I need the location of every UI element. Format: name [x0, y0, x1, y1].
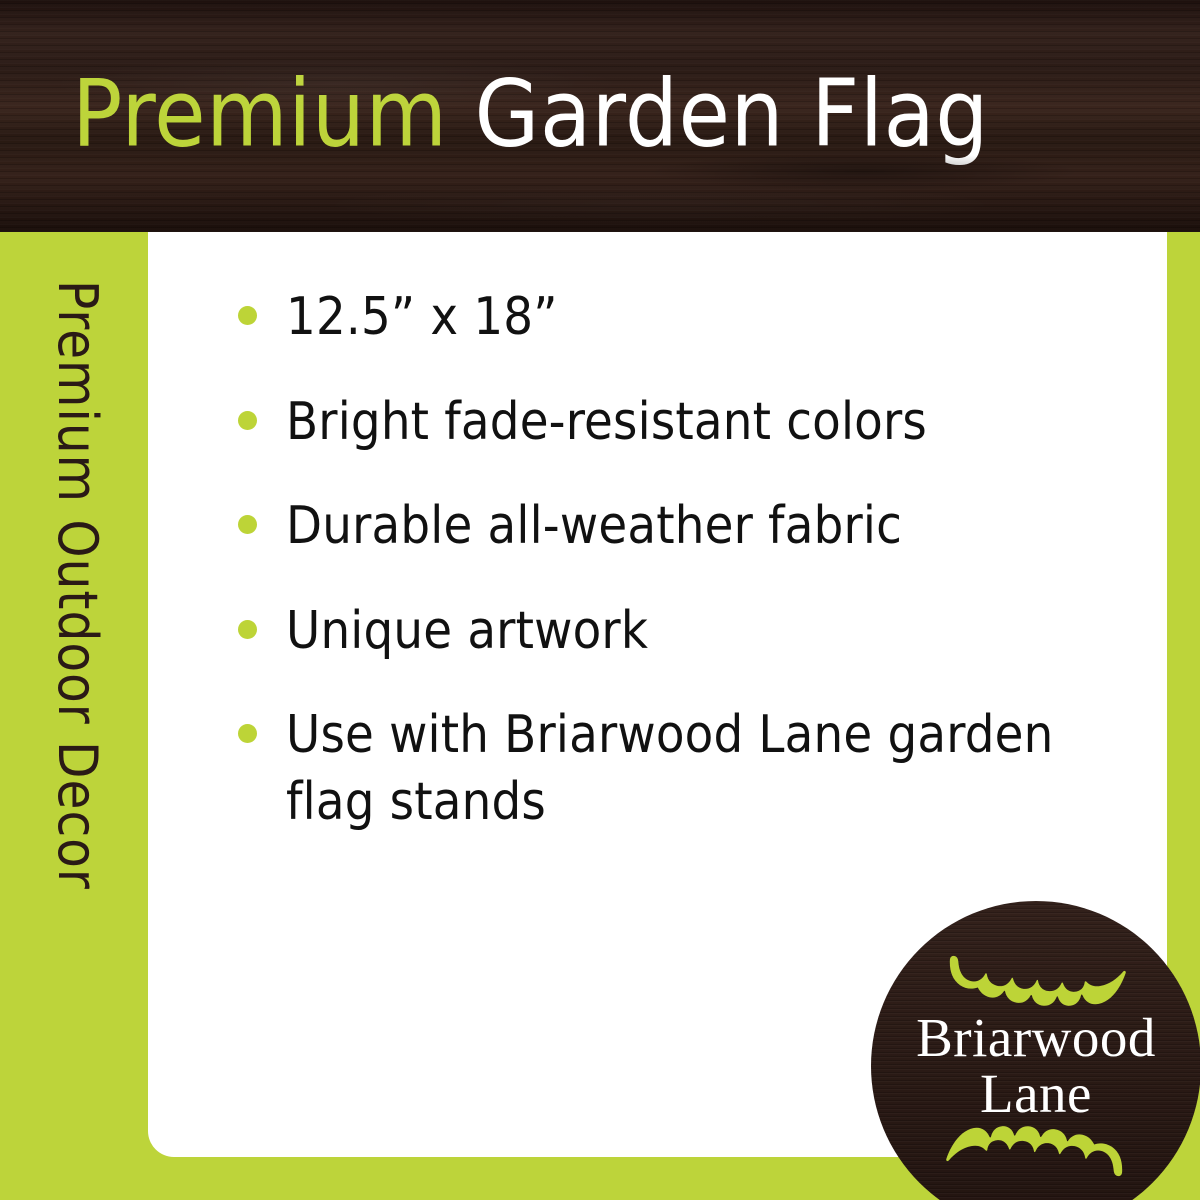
header-banner: Premium Garden Flag	[0, 0, 1200, 232]
list-item-label: 12.5” x 18”	[286, 287, 558, 347]
bullet-icon	[238, 411, 257, 430]
bullet-icon	[238, 515, 257, 534]
bullet-icon	[238, 724, 257, 743]
list-item-label: Use with Briarwood Lane garden flag stan…	[286, 705, 1054, 832]
list-item-label: Durable all-weather fabric	[286, 496, 902, 556]
brand-name-line1: Briarwood	[916, 1010, 1156, 1065]
product-feature-poster: Premium Garden Flag Premium Outdoor Deco…	[0, 0, 1200, 1200]
page-title-main: Garden Flag	[447, 60, 988, 168]
brand-name-line2: Lane	[916, 1065, 1156, 1123]
page-title-accent: Premium	[72, 60, 447, 168]
list-item: Use with Briarwood Lane garden flag stan…	[228, 702, 1088, 835]
list-item-label: Bright fade-resistant colors	[286, 392, 927, 452]
bullet-icon	[238, 620, 257, 639]
leaf-icon	[942, 954, 1130, 1008]
brand-name: Briarwood Lane	[916, 1010, 1156, 1123]
side-rail-label: Premium Outdoor Decor	[50, 280, 104, 890]
leaf-icon	[942, 1124, 1130, 1178]
list-item: Bright fade-resistant colors	[228, 389, 1088, 456]
page-title: Premium Garden Flag	[72, 68, 989, 161]
bullet-icon	[238, 306, 257, 325]
side-rail: Premium Outdoor Decor	[0, 232, 148, 1200]
feature-list: 12.5” x 18” Bright fade-resistant colors…	[228, 284, 1088, 835]
list-item: Unique artwork	[228, 598, 1088, 665]
list-item: 12.5” x 18”	[228, 284, 1088, 351]
list-item-label: Unique artwork	[286, 601, 648, 661]
list-item: Durable all-weather fabric	[228, 493, 1088, 560]
